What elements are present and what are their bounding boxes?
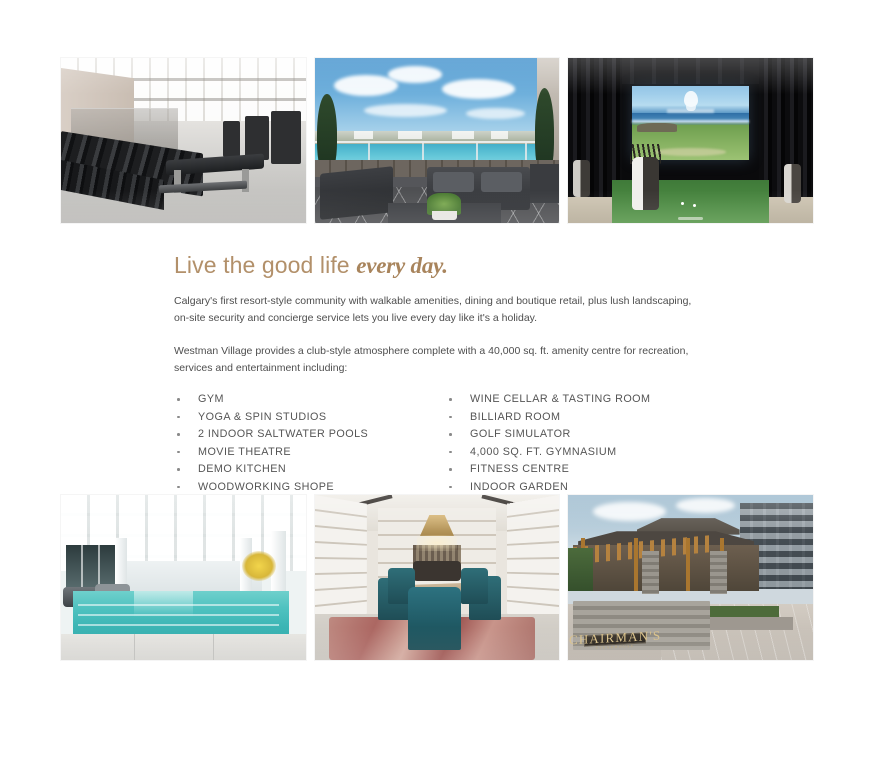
cloud — [676, 498, 735, 513]
page-title: Live the good life every day. — [174, 252, 714, 279]
signage-name: CHAIRMAN'S — [569, 628, 661, 646]
shore-building — [452, 131, 474, 139]
content-block: Live the good life every day. Calgary's … — [174, 252, 714, 496]
pool-floral-display — [242, 551, 276, 581]
golf-ball — [693, 204, 696, 207]
golf-trophy-logo-icon — [684, 91, 698, 107]
timber-post — [634, 538, 638, 591]
list-item: BILLIARD ROOM — [446, 409, 708, 426]
amenities-list-left: GYM YOGA & SPIN STUDIOS 2 INDOOR SALTWAT… — [174, 391, 446, 496]
shore-building — [354, 131, 374, 139]
photo-chairmans-steakhouse-exterior: CHAIRMAN'S STEAKHOUSE — [568, 495, 813, 660]
cloud — [334, 75, 398, 96]
shore-building — [398, 131, 422, 139]
planter-wall — [710, 617, 793, 630]
list-item: 2 INDOOR SALTWATER POOLS — [174, 426, 446, 443]
pool-scene — [61, 495, 306, 660]
golf-ball — [681, 202, 684, 205]
patio-lounge-chair — [530, 164, 559, 204]
stone-column — [642, 551, 659, 594]
photo-wine-cellar-tasting-room — [315, 495, 560, 660]
window-mullion — [81, 545, 83, 591]
screen-logo-text — [667, 109, 714, 113]
deck-seam — [213, 634, 214, 660]
screen-rocks — [637, 123, 677, 132]
signage-subtitle: STEAKHOUSE — [596, 643, 635, 649]
list-item: 4,000 SQ. FT. GYMNASIUM — [446, 444, 708, 461]
golf-bag — [573, 160, 590, 196]
cellar-chair — [461, 568, 488, 604]
gym-machine — [223, 121, 240, 157]
timber-post — [686, 538, 690, 591]
cloud — [388, 66, 442, 83]
patio-scene — [315, 58, 560, 223]
pool-lane-line — [78, 604, 279, 606]
intro-paragraph: Calgary's first resort-style community w… — [174, 293, 708, 327]
photo-golf-simulator-room — [568, 58, 813, 223]
golf-scene — [568, 58, 813, 223]
gym-machine — [271, 111, 300, 164]
cellar-lamp-glow — [417, 535, 456, 552]
photo-row-top — [61, 58, 813, 223]
sofa-cushion — [481, 172, 522, 192]
patio-planter-pot — [432, 211, 456, 219]
cellar-chair — [408, 587, 462, 650]
list-item: MOVIE THEATRE — [174, 444, 446, 461]
pool-lane-line — [78, 614, 279, 616]
list-item: WINE CELLAR & TASTING ROOM — [446, 391, 708, 408]
photo-fitness-gym-interior — [61, 58, 306, 223]
sofa-cushion — [433, 172, 474, 192]
pool-deck — [61, 634, 306, 660]
monument-sign-plate: CHAIRMAN'S STEAKHOUSE — [584, 632, 646, 647]
cellar-back-seating — [413, 561, 462, 581]
list-item: WOODWORKING SHOPE — [174, 479, 446, 496]
list-item: FITNESS CENTRE — [446, 461, 708, 478]
amenities-lists: GYM YOGA & SPIN STUDIOS 2 INDOOR SALTWAT… — [174, 391, 714, 496]
golf-bag — [784, 164, 801, 204]
pool-lane-line — [78, 624, 279, 626]
golf-floor-apron — [568, 197, 617, 223]
photo-rooftop-patio-lake-view — [315, 58, 560, 223]
shore-building — [491, 131, 508, 139]
golf-hitting-mat — [678, 217, 703, 219]
golf-bag — [632, 157, 659, 210]
screen-path — [655, 148, 725, 155]
list-item: YOGA & SPIN STUDIOS — [174, 409, 446, 426]
amenity-intro-paragraph: Westman Village provides a club-style at… — [174, 343, 708, 377]
patio-lounge-chair — [320, 166, 393, 220]
list-item: INDOOR GARDEN — [446, 479, 708, 496]
list-item: GOLF SIMULATOR — [446, 426, 708, 443]
landscaping-shrubs — [568, 548, 592, 591]
headline-lead: Live the good life — [174, 252, 356, 278]
monument-sign-base: CHAIRMAN'S STEAKHOUSE — [573, 601, 710, 651]
deck-seam — [134, 634, 135, 660]
chairmans-scene: CHAIRMAN'S STEAKHOUSE — [568, 495, 813, 660]
brochure-page: Live the good life every day. Calgary's … — [0, 0, 874, 768]
stone-column — [710, 551, 727, 594]
photo-row-bottom: CHAIRMAN'S STEAKHOUSE — [61, 495, 813, 660]
headline-script: every day. — [356, 253, 448, 278]
wine-rack-wall — [315, 495, 367, 634]
list-item: DEMO KITCHEN — [174, 461, 446, 478]
photo-indoor-saltwater-pool — [61, 495, 306, 660]
hedge-row — [710, 606, 779, 618]
list-item: GYM — [174, 391, 446, 408]
wine-rack-wall — [507, 495, 559, 634]
gym-scene — [61, 58, 306, 223]
amenities-list-right: WINE CELLAR & TASTING ROOM BILLIARD ROOM… — [446, 391, 708, 496]
cloud — [466, 108, 525, 120]
cellar-scene — [315, 495, 560, 660]
